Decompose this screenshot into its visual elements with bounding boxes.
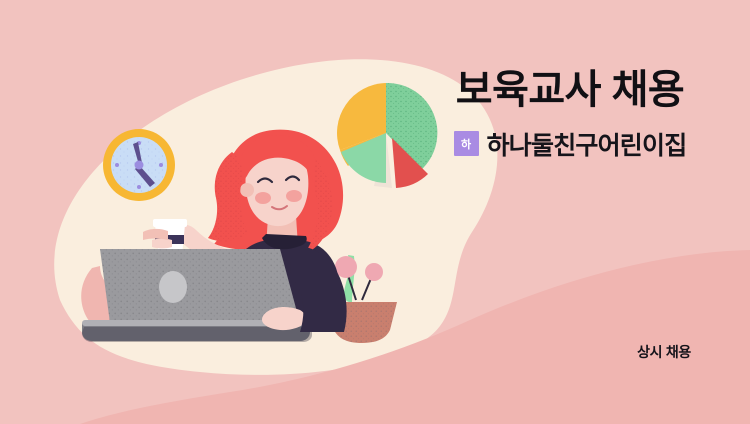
clock-icon (103, 129, 175, 201)
company-name: 하나둘친구어린이집 (487, 126, 687, 162)
company-badge-icon: 하 (454, 131, 479, 156)
company-line: 하 하나둘친구어린이집 (434, 126, 706, 162)
headline-block: 보육교사 채용 하 하나둘친구어린이집 (434, 68, 706, 162)
poster-canvas: 보육교사 채용 하 하나둘친구어린이집 상시 채용 (0, 0, 750, 424)
recruitment-status-note: 상시 채용 (637, 342, 691, 362)
page-title: 보육교사 채용 (434, 68, 706, 113)
